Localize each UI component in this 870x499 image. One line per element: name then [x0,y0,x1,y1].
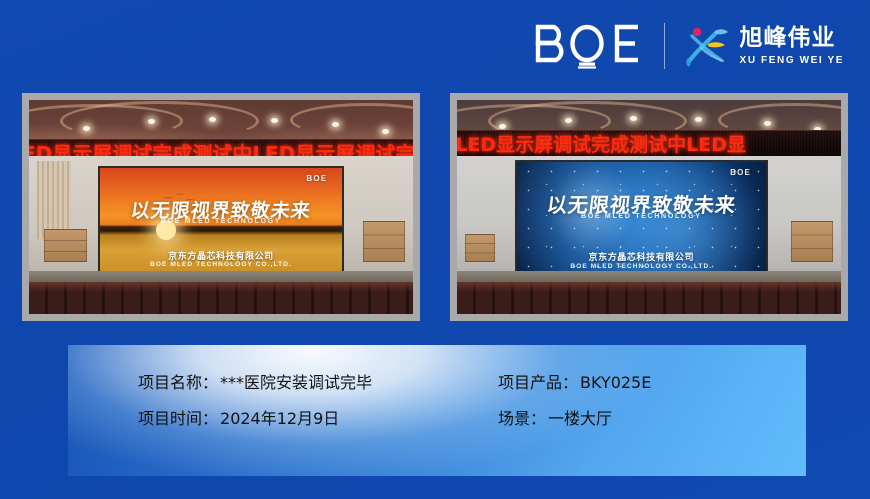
auditorium-seating [29,282,413,314]
project-time-label: 项目时间： [138,408,218,430]
photo-frame-right: 试完成测试中LED显示屏调试完成测试中LED显 BOE 以无限视界致敬未来 BO… [450,93,848,321]
screen-boe-logo: BOE [306,174,327,183]
right-photo: 试完成测试中LED显示屏调试完成测试中LED显 BOE 以无限视界致敬未来 BO… [457,100,841,314]
project-name-value: ***医院安装调试完毕 [220,372,372,394]
project-info-panel: 项目名称： ***医院安装调试完毕 项目产品： BKY025E 项目时间： 20… [68,345,806,476]
project-product-row: 项目产品： BKY025E [498,372,786,394]
page-root: 旭峰伟业 XU FENG WEI YE [0,0,870,499]
downlight-icon [148,119,155,124]
wall-slats [37,161,72,239]
downlight-icon [695,117,702,122]
scene-label: 场景： [498,408,546,430]
screen-company-cn: 京东方晶芯科技有限公司 [100,249,342,262]
logo-divider [664,23,665,69]
scene-row: 场景： 一楼大厅 [498,408,786,430]
stacked-boxes [363,221,405,261]
stage-floor [457,271,841,282]
led-ticker-text: 试完成测试中LED显示屏调试完成测试中LED显 [457,136,746,155]
screen-company-cn: 京东方晶芯科技有限公司 [517,250,766,263]
left-photo: LED显示屏调试完成测试中LED显示屏调试完成测试中 BOE [29,100,413,314]
downlight-icon [271,118,278,123]
logo-cluster: 旭峰伟业 XU FENG WEI YE [534,20,844,72]
screen-company-en: BOE MLED TECHNOLOGY CO.,LTD. [100,261,342,268]
led-display-screen-right: BOE 以无限视界致敬未来 BOE MLED TECHNOLOGY 京东方晶芯科… [515,160,768,278]
project-name-row: 项目名称： ***医院安装调试完毕 [138,372,498,394]
partner-logo: 旭峰伟业 XU FENG WEI YE [685,24,844,68]
downlight-icon [764,121,771,126]
partner-name-cn: 旭峰伟业 [740,27,844,50]
led-display-screen-left: BOE 以无限视界致敬未来 BOE MLED TECHNOLOGY 京东方晶芯科… [98,166,344,275]
screen-subtitle: BOE MLED TECHNOLOGY [517,213,766,220]
boe-logo-icon [534,23,642,69]
downlight-icon [630,116,637,121]
project-time-value: 2024年12月9日 [220,408,339,430]
ceiling-arch [290,103,413,137]
screen-company-en: BOE MLED TECHNOLOGY CO.,LTD. [517,263,766,270]
ceiling-arch [60,101,260,141]
header-bar: 旭峰伟业 XU FENG WEI YE [0,0,870,92]
stacked-boxes [791,221,833,261]
partner-name-en: XU FENG WEI YE [740,56,844,66]
project-info-grid: 项目名称： ***医院安装调试完毕 项目产品： BKY025E 项目时间： 20… [138,372,786,429]
partner-text: 旭峰伟业 XU FENG WEI YE [740,27,844,66]
photo-frame-left: LED显示屏调试完成测试中LED显示屏调试完成测试中 BOE [22,93,420,321]
scene-value: 一楼大厅 [548,408,612,430]
screen-boe-logo: BOE [730,168,751,177]
stacked-boxes [465,234,496,262]
stage-floor [29,271,413,282]
project-product-label: 项目产品： [498,372,578,394]
xufeng-bird-icon [685,24,731,68]
screen-subtitle: BOE MLED TECHNOLOGY [100,218,342,225]
project-name-label: 项目名称： [138,372,218,394]
downlight-icon [83,126,90,131]
photo-row: LED显示屏调试完成测试中LED显示屏调试完成测试中 BOE [22,93,848,323]
project-product-value: BKY025E [580,372,651,394]
auditorium-seating [457,282,841,314]
stacked-boxes [44,229,86,262]
project-time-row: 项目时间： 2024年12月9日 [138,408,498,430]
